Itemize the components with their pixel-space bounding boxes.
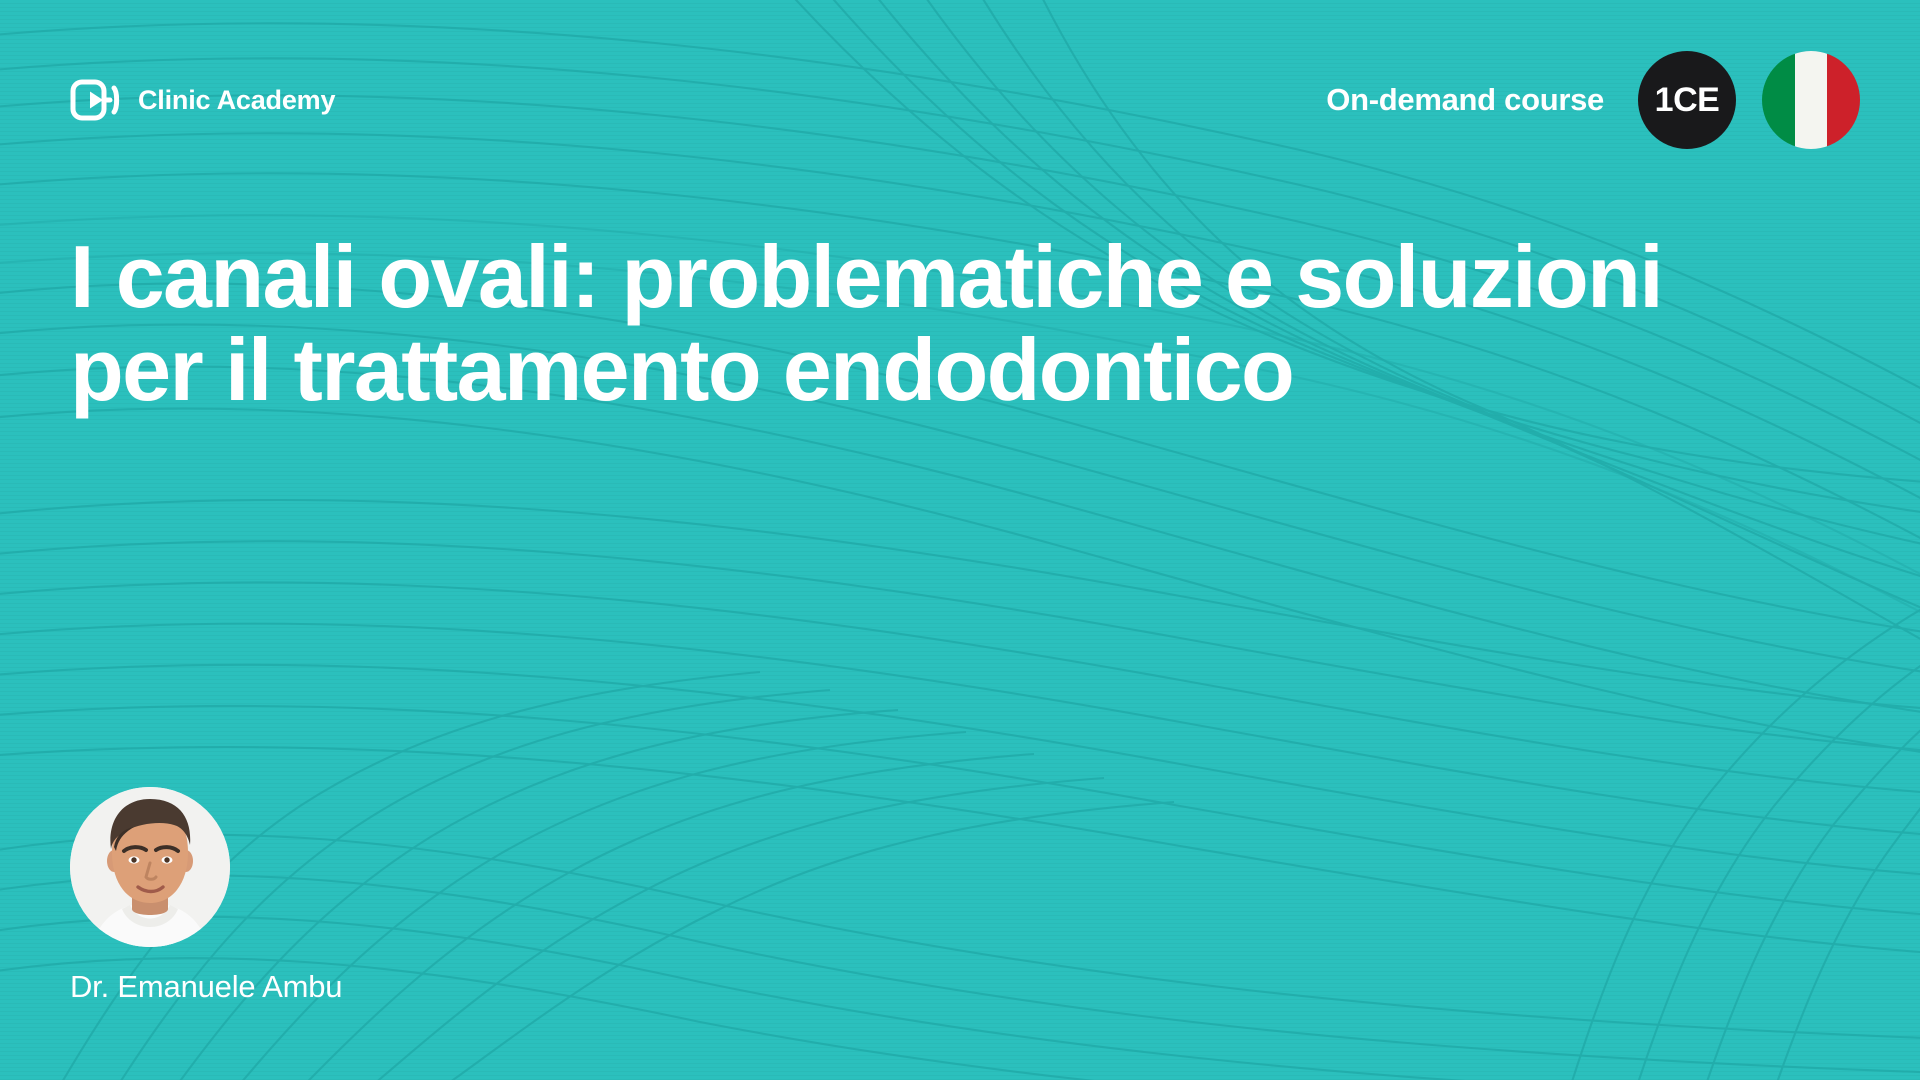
brand-name: Clinic Academy <box>138 85 335 116</box>
presenter-avatar <box>70 787 230 947</box>
flag-stripe-green <box>1762 51 1795 149</box>
course-title-line-2: per il trattamento endodontico <box>70 323 1890 416</box>
flag-stripe-white <box>1795 51 1828 149</box>
course-type-label: On-demand course <box>1326 82 1604 118</box>
course-card: Clinic Academy On-demand course 1CE I ca… <box>0 0 1920 1080</box>
course-title: I canali ovali: problematiche e soluzion… <box>70 230 1890 417</box>
presenter-block: Dr. Emanuele Ambu <box>70 787 590 1005</box>
ce-credit-badge[interactable]: 1CE <box>1638 51 1736 149</box>
italy-flag-icon[interactable] <box>1762 51 1860 149</box>
video-camera-icon <box>70 78 122 122</box>
brand-logo[interactable]: Clinic Academy <box>70 78 335 122</box>
presenter-portrait <box>70 787 230 947</box>
flag-stripe-red <box>1827 51 1860 149</box>
header-right-group: On-demand course 1CE <box>1326 51 1860 149</box>
course-title-line-1: I canali ovali: problematiche e soluzion… <box>70 230 1890 323</box>
card-header: Clinic Academy On-demand course 1CE <box>0 0 1920 200</box>
presenter-name: Dr. Emanuele Ambu <box>70 969 590 1005</box>
ce-credit-label: 1CE <box>1655 83 1720 117</box>
